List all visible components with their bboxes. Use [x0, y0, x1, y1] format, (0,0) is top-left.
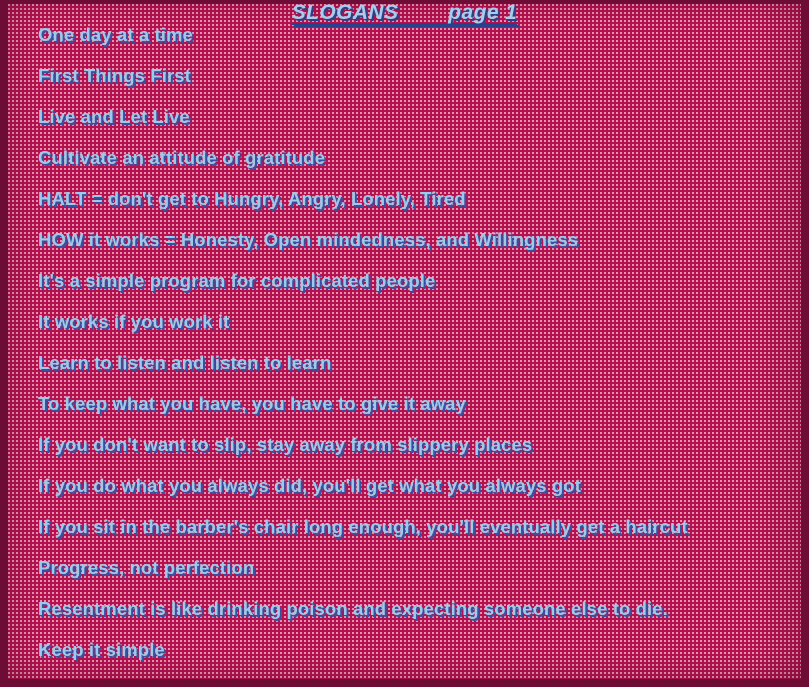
- title-row: SLOGANS page 1: [0, 1, 809, 25]
- slogan-line: If you don't want to slip, stay away fro…: [38, 436, 532, 455]
- slogans-slide: SLOGANS page 1 One day at a timeFirst Th…: [0, 0, 809, 687]
- slogan-line: Keep it simple: [38, 641, 165, 660]
- slogan-line: First Things First: [38, 67, 191, 86]
- slogan-line: One day at a time: [38, 26, 193, 45]
- page-title: SLOGANS page 1: [292, 1, 517, 25]
- slogan-line: It's a simple program for complicated pe…: [38, 272, 435, 291]
- slogan-line: Resentment is like drinking poison and e…: [38, 600, 668, 619]
- slogan-line: Learn to listen and listen to learn: [38, 354, 331, 373]
- slogan-line: If you sit in the barber's chair long en…: [38, 518, 688, 537]
- slide-content: SLOGANS page 1 One day at a timeFirst Th…: [0, 0, 809, 687]
- slogan-line: It works if you work it: [38, 313, 229, 332]
- slogan-line: To keep what you have, you have to give …: [38, 395, 466, 414]
- slogan-line: Progress, not perfection: [38, 559, 254, 578]
- slogan-line: Live and Let Live: [38, 108, 190, 127]
- slogan-line: If you do what you always did, you'll ge…: [38, 477, 581, 496]
- slogan-line: HOW it works = Honesty, Open mindedness,…: [38, 231, 578, 250]
- slogan-line: HALT = don't get to Hungry, Angry, Lonel…: [38, 190, 466, 209]
- slogan-line: Cultivate an attitude of gratitude: [38, 149, 325, 168]
